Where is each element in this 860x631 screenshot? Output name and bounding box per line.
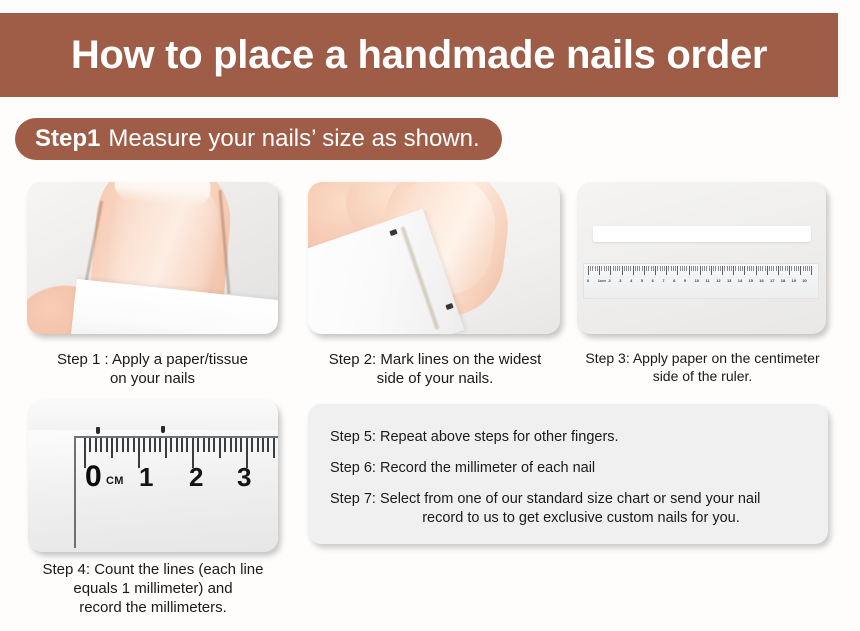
ruler-number: 20	[802, 276, 813, 285]
ruler-number: 19	[792, 276, 803, 285]
thumb-tissue-image	[27, 182, 278, 334]
macro-ruler-image: 0 CM 1 2 3	[28, 400, 278, 552]
ruler-number: 10	[695, 276, 706, 285]
ruler-number: 14	[738, 276, 749, 285]
ruler-tick-marks	[588, 266, 814, 276]
caption-step4-line1: Step 4: Count the lines (each line	[8, 560, 298, 579]
ruler-number: 11	[705, 276, 716, 285]
step1-badge-text: Measure your nails’ size as shown.	[108, 125, 479, 153]
ruler-number: 13	[727, 276, 738, 285]
caption-step1-line1: Step 1 : Apply a paper/tissue	[10, 350, 295, 369]
caption-step4-line3: record the millimeters.	[8, 598, 298, 617]
ruler-number: 1cm	[598, 276, 609, 285]
mark-lines-image	[308, 182, 560, 334]
photo-card-step1	[27, 182, 278, 334]
ruler-number: 3	[619, 276, 630, 285]
photo-card-step3: 01cm234567891011121314151617181920	[577, 182, 826, 334]
millimeter-tick-marks	[84, 438, 278, 462]
caption-step1-line2: on your nails	[10, 369, 295, 388]
step1-badge-label: Step1	[35, 125, 100, 153]
ruler-marker-pin-2	[161, 426, 165, 433]
ruler-number: 18	[781, 276, 792, 285]
ruler-label-2: 2	[189, 462, 203, 493]
step7-line: Step 7: Select from one of our standard …	[330, 490, 802, 528]
ruler-number: 17	[770, 276, 781, 285]
ruler-label-1: 1	[139, 462, 153, 493]
ruler-shape: 01cm234567891011121314151617181920	[583, 263, 819, 299]
page-title: How to place a handmade nails order	[71, 35, 767, 75]
paper-strip	[593, 226, 811, 242]
caption-step3-line2: side of the ruler.	[575, 368, 830, 386]
photo-card-step4: 0 CM 1 2 3	[28, 400, 278, 552]
ruler-number: 7	[662, 276, 673, 285]
steps-5-to-7-panel: Step 5: Repeat above steps for other fin…	[308, 404, 828, 544]
ruler-marker-pin-1	[96, 427, 100, 434]
step1-badge: Step1 Measure your nails’ size as shown.	[15, 118, 502, 160]
ruler-label-3: 3	[237, 462, 251, 493]
caption-step2: Step 2: Mark lines on the widest side of…	[296, 350, 574, 388]
ruler-number: 2	[609, 276, 620, 285]
caption-step1: Step 1 : Apply a paper/tissue on your na…	[10, 350, 295, 388]
step5-line: Step 5: Repeat above steps for other fin…	[330, 428, 802, 447]
ruler-number: 4	[630, 276, 641, 285]
photo-background	[577, 182, 826, 334]
ruler-tick	[811, 266, 813, 275]
ruler-number: 0	[587, 276, 598, 285]
ruler-number: 12	[716, 276, 727, 285]
ruler-number: 8	[673, 276, 684, 285]
ruler-label-cm-unit: CM	[106, 475, 124, 487]
ruler-edge-vertical	[74, 436, 76, 548]
step6-line: Step 6: Record the millimeter of each na…	[330, 459, 802, 478]
header-banner: How to place a handmade nails order	[0, 13, 838, 97]
ruler-upper-band	[28, 400, 278, 430]
caption-step2-line2: side of your nails.	[296, 369, 574, 388]
ruler-number: 9	[684, 276, 695, 285]
ruler-number-labels: 01cm234567891011121314151617181920	[588, 276, 814, 285]
ruler-number: 5	[641, 276, 652, 285]
ruler-paper-image: 01cm234567891011121314151617181920	[577, 182, 826, 334]
step7-continued-text: record to us to get exclusive custom nai…	[330, 509, 802, 528]
caption-step3-line1: Step 3: Apply paper on the centimeter	[575, 350, 830, 368]
ruler-label-zero: 0	[85, 460, 102, 494]
caption-step3: Step 3: Apply paper on the centimeter si…	[575, 350, 830, 386]
caption-step2-line1: Step 2: Mark lines on the widest	[296, 350, 574, 369]
caption-step4: Step 4: Count the lines (each line equal…	[8, 560, 298, 618]
ruler-number: 15	[748, 276, 759, 285]
photo-card-step2	[308, 182, 560, 334]
millimeter-tick	[273, 438, 278, 458]
ruler-number: 6	[652, 276, 663, 285]
step7-main-text: Step 7: Select from one of our standard …	[330, 491, 760, 507]
ruler-number: 16	[759, 276, 770, 285]
caption-step4-line2: equals 1 millimeter) and	[8, 579, 298, 598]
